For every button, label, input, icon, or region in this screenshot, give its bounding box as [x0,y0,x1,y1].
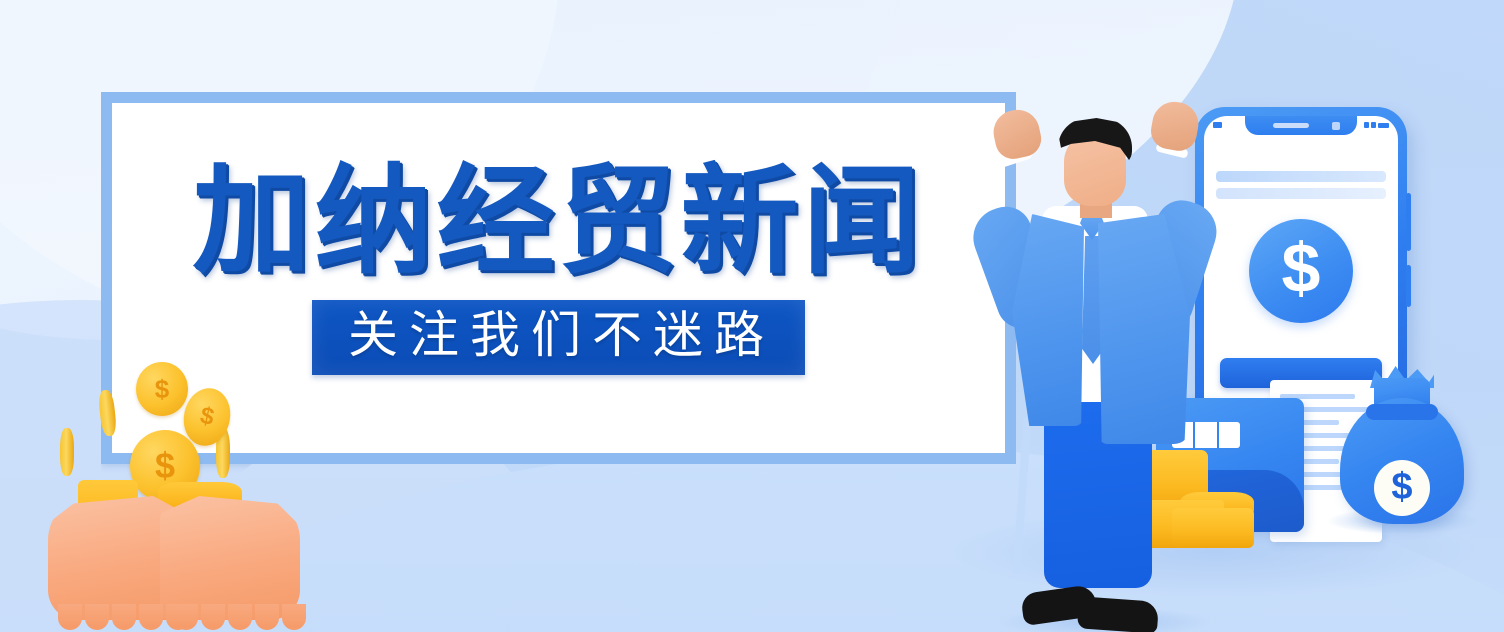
phone-side-button [1406,265,1411,307]
leg-separation [1013,418,1032,574]
raised-fist-left [990,106,1045,163]
coin-edge-icon [98,389,118,436]
status-bar-right [1364,122,1389,128]
banner-poster: 加纳经贸新闻 关注我们不迷路 $ $ $ [0,0,1504,632]
falling-coin-icon: $ [136,362,188,416]
subtitle-banner: 关注我们不迷路 [312,300,805,375]
wifi-icon [1364,122,1369,128]
finance-illustration: $ [940,60,1504,632]
signal-icon [1371,122,1376,128]
money-bag-tie [1366,404,1438,420]
fingers-right [174,604,306,630]
content-placeholder-line [1216,188,1386,199]
cupped-hands-with-coins: $ $ $ [48,352,298,620]
dollar-circle-icon: $ [1249,219,1353,323]
money-bag: $ [1340,360,1464,524]
shoe-right [1077,596,1159,632]
money-bag-dollar-icon: $ [1374,460,1430,516]
page-title: 加纳经贸新闻 [192,161,924,284]
fingers-left [58,604,190,630]
phone-speaker-icon [1273,123,1309,128]
dollar-symbol: $ [1282,233,1321,303]
content-placeholder-line [1216,171,1386,182]
coin-edge-icon [60,428,74,476]
battery-icon [1378,123,1389,128]
phone-notch [1245,116,1357,135]
hand-right [160,496,300,620]
phone-camera-icon [1332,122,1340,130]
phone-side-button [1406,193,1411,251]
dollar-symbol: $ [1391,468,1412,506]
subtitle-text: 关注我们不迷路 [342,309,775,362]
celebrating-businessman [966,88,1226,632]
